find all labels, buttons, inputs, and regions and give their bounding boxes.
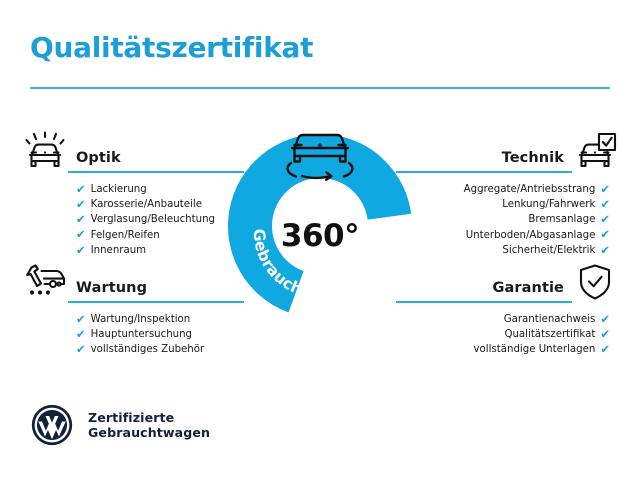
list-item-label: Qualitätszertifikat (504, 327, 595, 342)
badge-degrees: 360° (228, 218, 412, 254)
check-icon: ✔ (600, 214, 610, 226)
list-item: ✔Aggregate/Antriebsstrang (396, 182, 610, 197)
check-icon: ✔ (76, 329, 86, 341)
list-item-label: vollständiges Zubehör (91, 342, 205, 357)
check-icon: ✔ (600, 314, 610, 326)
list-item-label: Karosserie/Anbauteile (91, 197, 202, 212)
section-optik-header: Optik (22, 128, 244, 174)
brand-line-1: Zertifizierte (88, 410, 210, 426)
section-technik-underline (396, 171, 572, 173)
check-icon: ✔ (600, 245, 610, 257)
check-icon: ✔ (76, 245, 86, 257)
check-icon: ✔ (600, 184, 610, 196)
section-wartung-title: Wartung (68, 280, 244, 301)
section-technik-title: Technik (396, 150, 572, 171)
list-item: ✔Sicherheit/Elektrik (396, 243, 610, 258)
header-divider (30, 87, 610, 89)
list-item-label: Hauptuntersuchung (91, 327, 192, 342)
section-garantie-underline (396, 301, 572, 303)
check-icon: ✔ (76, 184, 86, 196)
section-technik-header: Technik (396, 128, 618, 174)
list-item: ✔Unterboden/Abgasanlage (396, 228, 610, 243)
list-item: ✔Karosserie/Anbauteile (76, 197, 244, 212)
check-icon: ✔ (76, 199, 86, 211)
list-item: ✔Lenkung/Fahrwerk (396, 197, 610, 212)
check-icon: ✔ (76, 344, 86, 356)
check-icon: ✔ (600, 329, 610, 341)
check-icon: ✔ (76, 314, 86, 326)
list-item-label: Sicherheit/Elektrik (502, 243, 595, 258)
list-item-label: vollständige Unterlagen (474, 342, 596, 357)
section-optik-underline (68, 171, 244, 173)
list-item: ✔vollständiges Zubehör (76, 342, 244, 357)
section-wartung: Wartung ✔Wartung/Inspektion ✔Hauptunters… (22, 258, 244, 358)
brand-line-2: Gebrauchtwagen (88, 425, 210, 441)
car-wrench-icon (22, 260, 68, 304)
list-item-label: Wartung/Inspektion (91, 312, 191, 327)
check-icon: ✔ (76, 214, 86, 226)
list-item-label: Lackierung (91, 182, 147, 197)
check-icon: ✔ (600, 229, 610, 241)
section-wartung-list: ✔Wartung/Inspektion ✔Hauptuntersuchung ✔… (22, 312, 244, 358)
list-item-label: Bremsanlage (528, 212, 595, 227)
list-item-label: Lenkung/Fahrwerk (502, 197, 595, 212)
shield-check-icon (572, 260, 618, 304)
brand-lockup: Zertifizierte Gebrauchtwagen (30, 403, 210, 447)
gebrauchtwagen-check-badge: Gebrauchtwagen-Check 360° (228, 122, 412, 318)
list-item-label: Felgen/Reifen (91, 228, 160, 243)
page-title: Qualitätszertifikat (30, 31, 313, 64)
list-item-label: Garantienachweis (504, 312, 596, 327)
section-garantie: Garantie ✔Garantienachweis ✔Qualitätszer… (396, 258, 618, 358)
check-icon: ✔ (76, 229, 86, 241)
check-icon: ✔ (600, 199, 610, 211)
volkswagen-logo (30, 403, 74, 447)
list-item-label: Verglasung/Beleuchtung (91, 212, 215, 227)
section-garantie-header: Garantie (396, 258, 618, 304)
section-optik: Optik ✔Lackierung ✔Karosserie/Anbauteile… (22, 128, 244, 258)
list-item: ✔Verglasung/Beleuchtung (76, 212, 244, 227)
list-item: ✔Felgen/Reifen (76, 228, 244, 243)
section-technik: Technik ✔Aggregate/Antriebsstrang ✔Lenku… (396, 128, 618, 258)
list-item: ✔Qualitätszertifikat (396, 327, 610, 342)
section-optik-list: ✔Lackierung ✔Karosserie/Anbauteile ✔Verg… (22, 182, 244, 258)
list-item-label: Unterboden/Abgasanlage (466, 228, 596, 243)
list-item: ✔Hauptuntersuchung (76, 327, 244, 342)
list-item-label: Innenraum (91, 243, 146, 258)
list-item: ✔Garantienachweis (396, 312, 610, 327)
list-item: ✔Bremsanlage (396, 212, 610, 227)
brand-lockup-text: Zertifizierte Gebrauchtwagen (88, 410, 210, 441)
section-garantie-title: Garantie (396, 280, 572, 301)
check-icon: ✔ (600, 344, 610, 356)
list-item-label: Aggregate/Antriebsstrang (464, 182, 596, 197)
section-garantie-list: ✔Garantienachweis ✔Qualitätszertifikat ✔… (396, 312, 618, 358)
section-wartung-underline (68, 301, 244, 303)
list-item: ✔Lackierung (76, 182, 244, 197)
list-item: ✔vollständige Unterlagen (396, 342, 610, 357)
section-technik-list: ✔Aggregate/Antriebsstrang ✔Lenkung/Fahrw… (396, 182, 618, 258)
section-wartung-header: Wartung (22, 258, 244, 304)
list-item: ✔Innenraum (76, 243, 244, 258)
section-optik-title: Optik (68, 150, 244, 171)
car-checkbox-icon (572, 130, 618, 174)
list-item: ✔Wartung/Inspektion (76, 312, 244, 327)
car-shine-icon (22, 130, 68, 174)
